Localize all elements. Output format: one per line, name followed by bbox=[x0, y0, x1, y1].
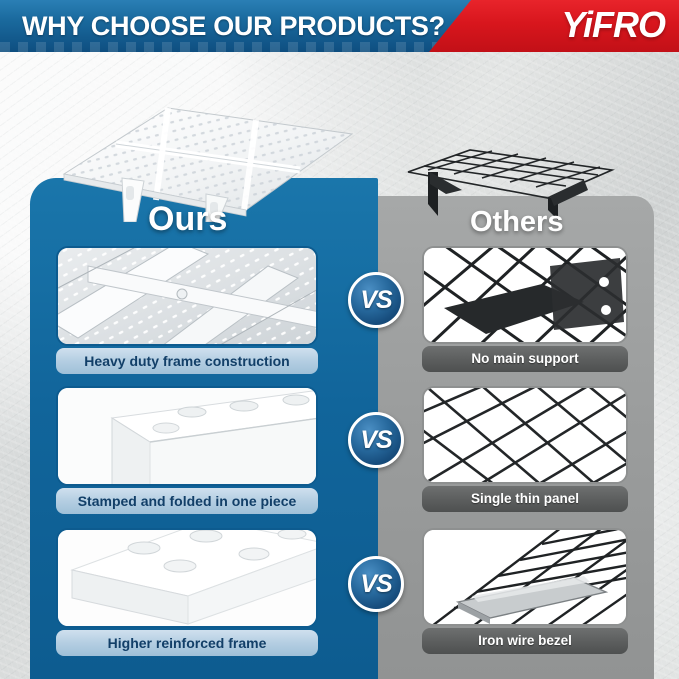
ours-heading: Ours bbox=[148, 200, 227, 239]
others-heading: Others bbox=[470, 206, 563, 239]
others-feature-row-1: No main support bbox=[422, 246, 628, 372]
vs-badge-2: VS bbox=[348, 412, 404, 468]
ours-feature-image-3 bbox=[56, 528, 318, 628]
others-feature-image-3 bbox=[422, 528, 628, 626]
ours-feature-row-3: Higher reinforced frame bbox=[56, 528, 318, 656]
ours-feature-row-2: Stamped and folded in one piece bbox=[56, 386, 318, 514]
others-feature-row-3: Iron wire bezel bbox=[422, 528, 628, 654]
ours-caption-2: Stamped and folded in one piece bbox=[56, 488, 318, 514]
ours-feature-row-1: Heavy duty frame construction bbox=[56, 246, 318, 374]
product-comparison-poster: WHY CHOOSE OUR PRODUCTS? YiFRO bbox=[0, 0, 679, 679]
header-banner: WHY CHOOSE OUR PRODUCTS? YiFRO bbox=[0, 0, 679, 52]
others-feature-row-2: Single thin panel bbox=[422, 386, 628, 512]
ours-caption-1: Heavy duty frame construction bbox=[56, 348, 318, 374]
others-feature-image-2 bbox=[422, 386, 628, 484]
ours-caption-3: Higher reinforced frame bbox=[56, 630, 318, 656]
vs-badge-1: VS bbox=[348, 272, 404, 328]
page-title: WHY CHOOSE OUR PRODUCTS? bbox=[22, 0, 445, 52]
vs-badge-label: VS bbox=[360, 286, 391, 315]
vs-badge-label: VS bbox=[360, 426, 391, 455]
vs-badge-label: VS bbox=[360, 570, 391, 599]
brand-logo: YiFRO bbox=[561, 0, 665, 52]
vs-badge-3: VS bbox=[348, 556, 404, 612]
ours-feature-image-2 bbox=[56, 386, 318, 486]
ours-feature-image-1 bbox=[56, 246, 318, 346]
others-caption-2: Single thin panel bbox=[422, 486, 628, 512]
others-feature-image-1 bbox=[422, 246, 628, 344]
others-caption-3: Iron wire bezel bbox=[422, 628, 628, 654]
others-caption-1: No main support bbox=[422, 346, 628, 372]
